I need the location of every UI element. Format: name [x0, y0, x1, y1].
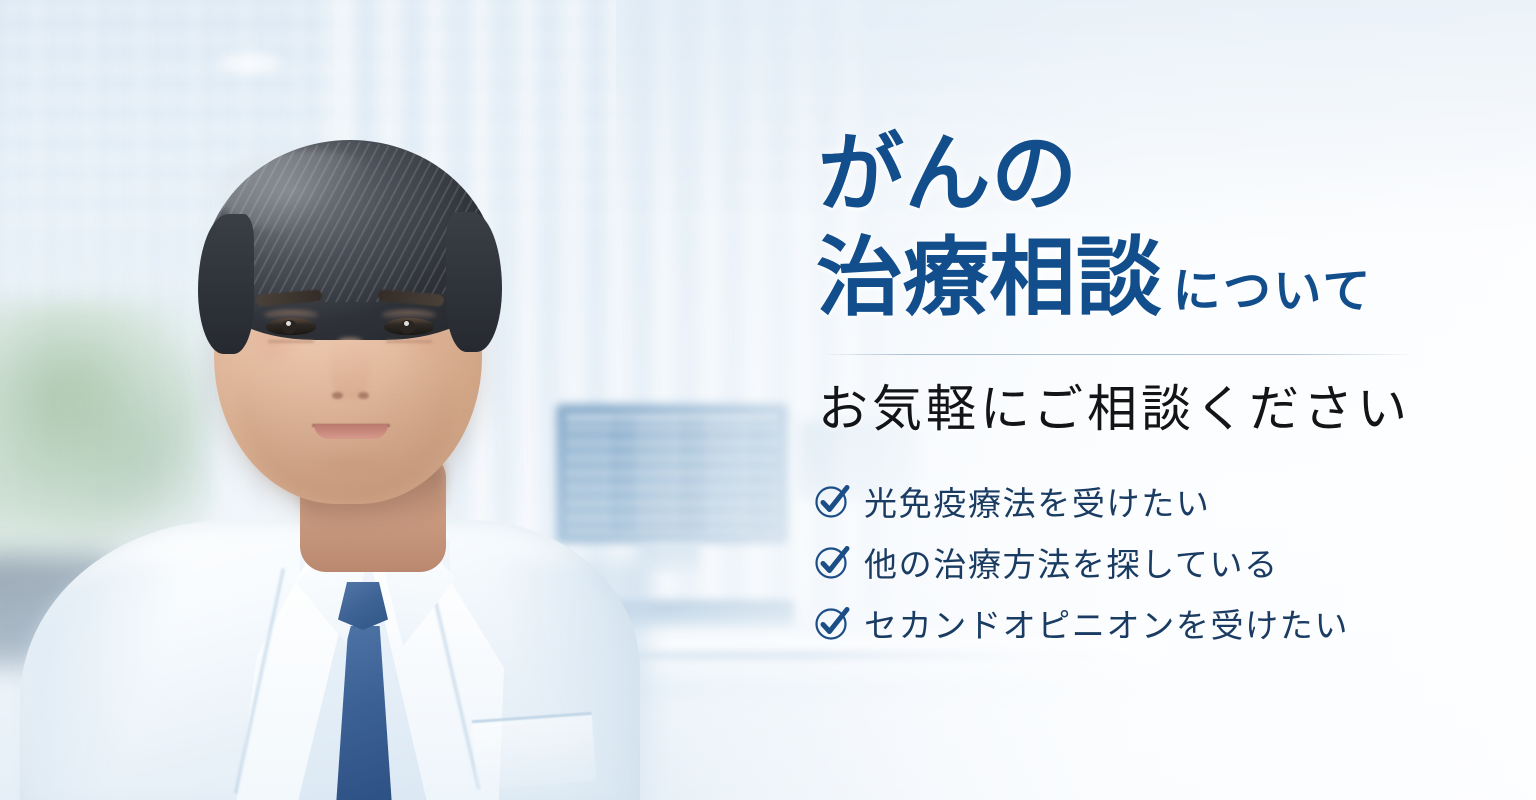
- hair-sideburn-right: [446, 212, 502, 352]
- page-title: がんの 治療相談について: [812, 129, 1472, 323]
- check-circle-icon: [812, 542, 852, 582]
- check-circle-icon: [812, 603, 852, 643]
- list-item-label: セカンドオピニオンを受けたい: [864, 599, 1349, 647]
- nostril-right: [358, 392, 369, 399]
- under-eye-line-right: [386, 340, 432, 343]
- title-line-2: 治療相談について: [816, 233, 1472, 324]
- hero-text-block: がんの 治療相談について お気軽にご相談ください 光免疫療法を受けたい: [812, 108, 1472, 660]
- under-eye-line-left: [268, 340, 314, 343]
- mouth: [314, 424, 388, 439]
- list-item-label: 光免疫療法を受けたい: [864, 477, 1211, 525]
- hair-sideburn-left: [198, 214, 254, 354]
- lab-coat-shadow-left: [28, 560, 198, 800]
- title-suffix-phrase: について: [1173, 265, 1373, 318]
- check-circle-icon: [812, 481, 852, 521]
- doctor-portrait: [0, 0, 700, 800]
- eye-glint-left: [286, 321, 291, 326]
- list-item-label: 他の治療方法を探している: [864, 538, 1279, 586]
- ceiling-light-glow-right: [1190, 2, 1300, 32]
- list-item: セカンドオピニオンを受けたい: [812, 599, 1472, 647]
- nose: [330, 338, 370, 400]
- lab-coat-pocket: [472, 712, 597, 789]
- list-item: 他の治療方法を探している: [812, 538, 1472, 586]
- eye-glint-right: [404, 321, 409, 326]
- title-line-1: がんの: [818, 129, 1472, 220]
- list-item: 光免疫療法を受けたい: [812, 477, 1472, 525]
- chin-shading: [310, 452, 392, 476]
- benefits-checklist: 光免疫療法を受けたい 他の治療方法を探している: [812, 477, 1472, 647]
- page-subtitle: お気軽にご相談ください: [818, 379, 1472, 439]
- nostril-left: [332, 392, 343, 399]
- hero-banner: がんの 治療相談について お気軽にご相談ください 光免疫療法を受けたい: [0, 0, 1536, 800]
- title-divider: [826, 354, 1410, 355]
- title-main-phrase: 治療相談: [816, 230, 1163, 326]
